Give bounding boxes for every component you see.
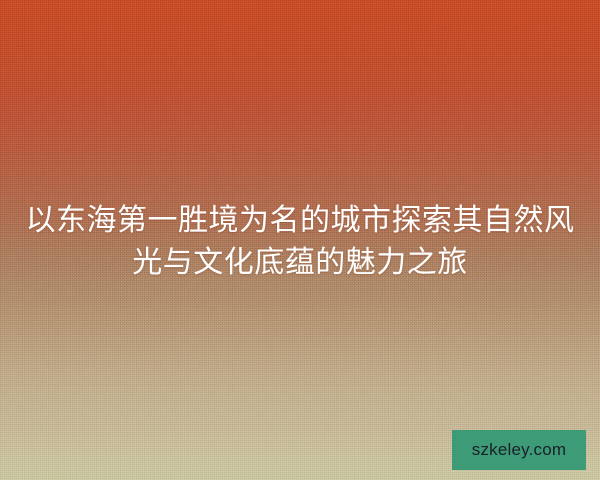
image-canvas: 以东海第一胜境为名的城市探索其自然风光与文化底蕴的魅力之旅 szkeley.co…	[0, 0, 600, 480]
watermark-badge: szkeley.com	[452, 430, 586, 470]
watermark-label: szkeley.com	[472, 440, 566, 460]
headline-text: 以东海第一胜境为名的城市探索其自然风光与文化底蕴的魅力之旅	[0, 200, 600, 284]
